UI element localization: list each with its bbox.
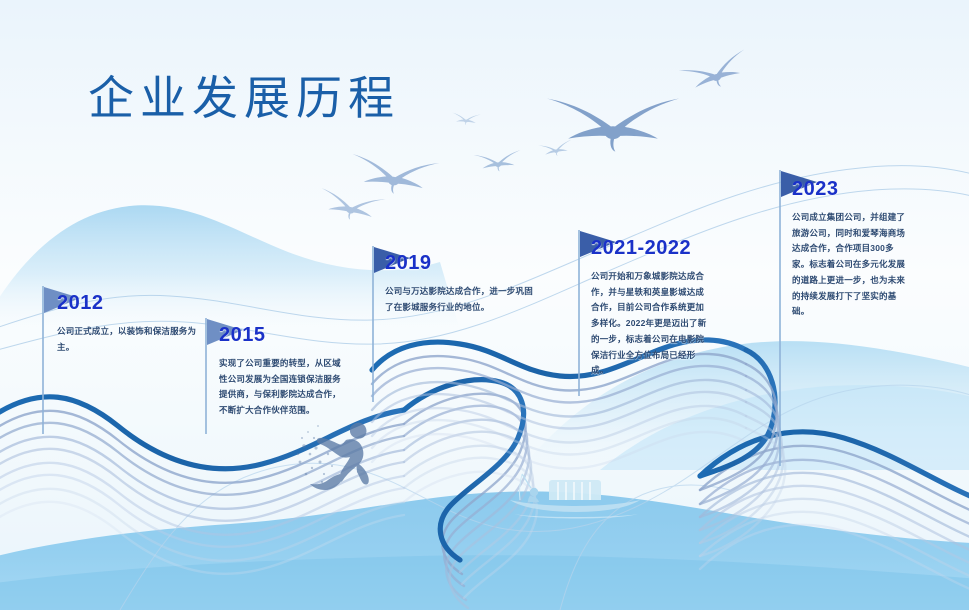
milestone-year: 2015 — [219, 324, 341, 347]
milestone-description: 公司成立集团公司，并组建了旅游公司，同时和爱琴海商场达成合作，合作项目300多家… — [792, 210, 910, 320]
milestone-description: 公司正式成立，以装饰和保洁服务为主。 — [57, 324, 197, 355]
milestone-year: 2012 — [57, 292, 197, 315]
milestone-year: 2019 — [385, 252, 535, 275]
milestone-2019[interactable]: 2019 公司与万达影院达成合作，进一步巩固了在影城服务行业的地位。 — [385, 252, 535, 315]
milestone-2015[interactable]: 2015 实现了公司重要的转型，从区域性公司发展为全国连锁保洁服务提供商，与保利… — [219, 324, 341, 419]
milestone-description: 公司开始和万象城影院达成合作，并与星轶和英皇影城达成合作，目前公司合作系统更加多… — [591, 269, 709, 379]
milestone-year: 2023 — [792, 178, 910, 201]
milestone-2021-2022[interactable]: 2021-2022 公司开始和万象城影院达成合作，并与星轶和英皇影城达成合作，目… — [591, 237, 709, 379]
milestone-description: 实现了公司重要的转型，从区域性公司发展为全国连锁保洁服务提供商，与保利影院达成合… — [219, 356, 341, 419]
milestone-description: 公司与万达影院达成合作，进一步巩固了在影城服务行业的地位。 — [385, 284, 535, 315]
page-title: 企业发展历程 — [88, 62, 400, 128]
fishing-boat-icon — [510, 474, 640, 519]
infographic-canvas: 企业发展历程 2012 公司正式成立，以装饰和保洁服务为主。 2015 实现了公… — [0, 0, 969, 610]
milestone-2023[interactable]: 2023 公司成立集团公司，并组建了旅游公司，同时和爱琴海商场达成合作，合作项目… — [792, 178, 910, 320]
milestone-year: 2021-2022 — [591, 237, 709, 260]
milestone-2012[interactable]: 2012 公司正式成立，以装饰和保洁服务为主。 — [57, 292, 197, 355]
